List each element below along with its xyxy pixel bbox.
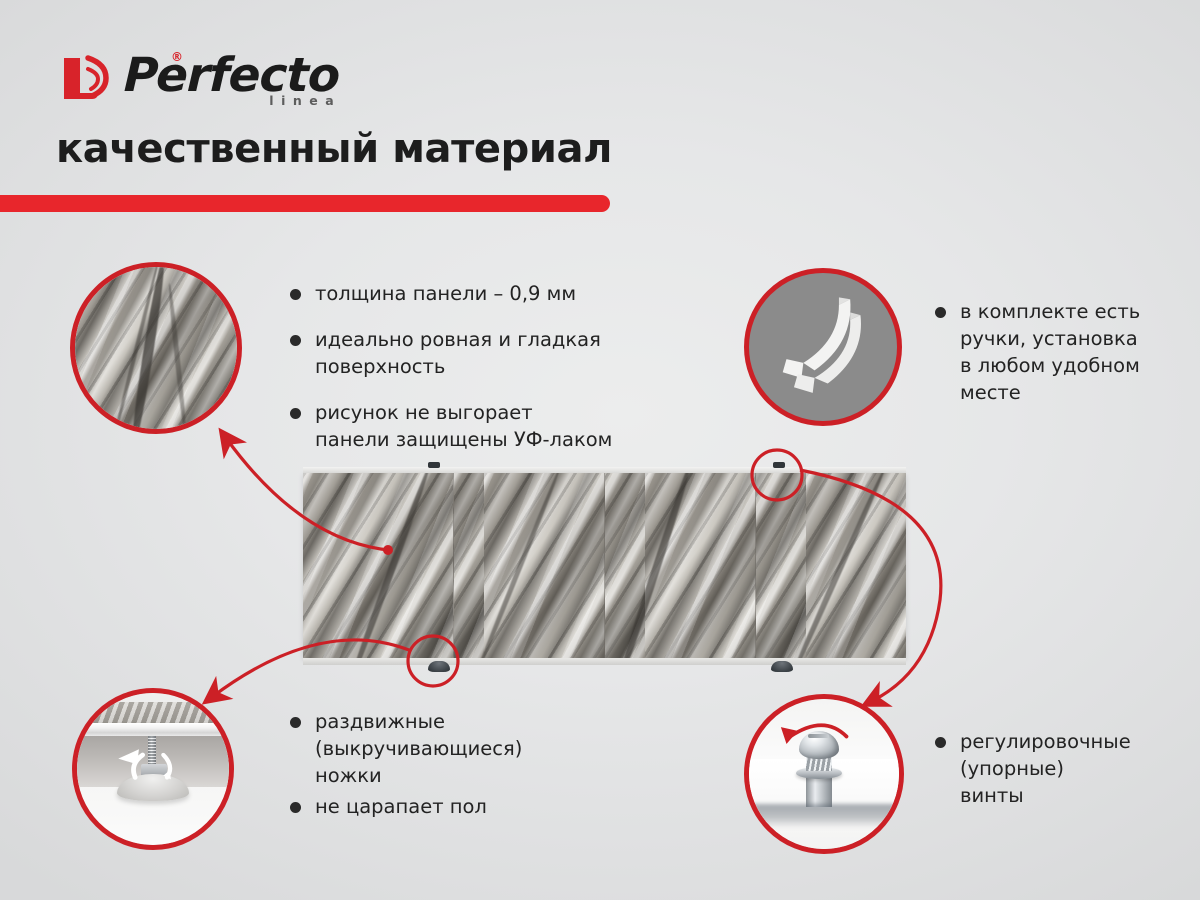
bullet-line: месте [960, 379, 1140, 406]
list-item: раздвижные (выкручивающиеся) ножки [290, 708, 570, 789]
handle-pair-icon [749, 273, 897, 421]
perfecto-logo-icon [58, 52, 114, 108]
bullet-line: не царапает пол [315, 793, 487, 820]
circle-screw-photo [744, 694, 904, 854]
bullets-screws: регулировочные (упорные) винты [935, 728, 1185, 823]
bullet-line: раздвижные [315, 708, 522, 735]
bullet-dot-icon [935, 737, 946, 748]
registered-trademark-icon: ® [171, 50, 183, 64]
circle-material-photo [70, 262, 242, 434]
bullet-line: (выкручивающиеся) [315, 735, 522, 762]
bullets-handles: в комплекте есть ручки, установка в любо… [935, 298, 1185, 420]
list-item: не царапает пол [290, 793, 570, 820]
list-item: регулировочные (упорные) винты [935, 728, 1185, 809]
adjustable-foot-photo [77, 693, 229, 845]
bullet-line: ручки, установка [960, 325, 1140, 352]
rotation-arrow-icon [77, 693, 229, 845]
brand-name: Perfecto [123, 52, 340, 99]
circle-foot-photo [72, 688, 234, 850]
panel-segment [303, 473, 454, 658]
bullet-dot-icon [290, 802, 301, 813]
list-item: толщина панели – 0,9 мм [290, 280, 730, 307]
bullets-feet: раздвижные (выкручивающиеся) ножки не ца… [290, 708, 570, 824]
rotation-arrow-icon [749, 699, 899, 849]
panel-bottom-edge [303, 658, 906, 665]
panel-segment [454, 473, 605, 658]
circle-handles-icon [744, 268, 902, 426]
bullet-line: в комплекте есть [960, 298, 1140, 325]
bullet-line: (упорные) [960, 755, 1131, 782]
panel-foot [428, 661, 450, 672]
bullet-dot-icon [290, 408, 301, 419]
bullet-line: толщина панели – 0,9 мм [315, 280, 576, 307]
title-accent-bar [0, 195, 610, 212]
panel-adjusting-screw [773, 462, 785, 468]
bullet-line: винты [960, 782, 1131, 809]
bullet-line: в любом удобном [960, 352, 1140, 379]
page-title: качественный материал [56, 126, 612, 172]
bullet-line: панели защищены УФ-лаком [315, 426, 612, 453]
panel-body [303, 473, 906, 658]
bullet-dot-icon [935, 307, 946, 318]
list-item: идеально ровная и гладкая поверхность [290, 326, 730, 380]
bullet-dot-icon [290, 717, 301, 728]
bullet-line: рисунок не выгорает [315, 399, 612, 426]
bullet-line: регулировочные [960, 728, 1131, 755]
bullets-material: толщина панели – 0,9 мм идеально ровная … [290, 280, 730, 472]
panel-foot [771, 661, 793, 672]
brand-subtitle: linea [269, 93, 341, 108]
panel-segment [756, 473, 906, 658]
marble-texture-icon [75, 267, 237, 429]
brand-wordmark: Perfecto ® linea [124, 52, 339, 99]
infographic-page: Perfecto ® linea качественный материал т… [0, 0, 1200, 900]
bullet-dot-icon [290, 289, 301, 300]
list-item: рисунок не выгорает панели защищены УФ-л… [290, 399, 730, 453]
bath-screen-panel [303, 473, 906, 658]
brand-logo: Perfecto ® linea [58, 52, 339, 108]
panel-segment [605, 473, 756, 658]
panel-adjusting-screw [428, 462, 440, 468]
bullet-dot-icon [290, 335, 301, 346]
list-item: в комплекте есть ручки, установка в любо… [935, 298, 1185, 406]
adjusting-screw-photo [749, 699, 899, 849]
bullet-line: идеально ровная и гладкая поверхность [315, 326, 730, 380]
bullet-line: ножки [315, 762, 522, 789]
